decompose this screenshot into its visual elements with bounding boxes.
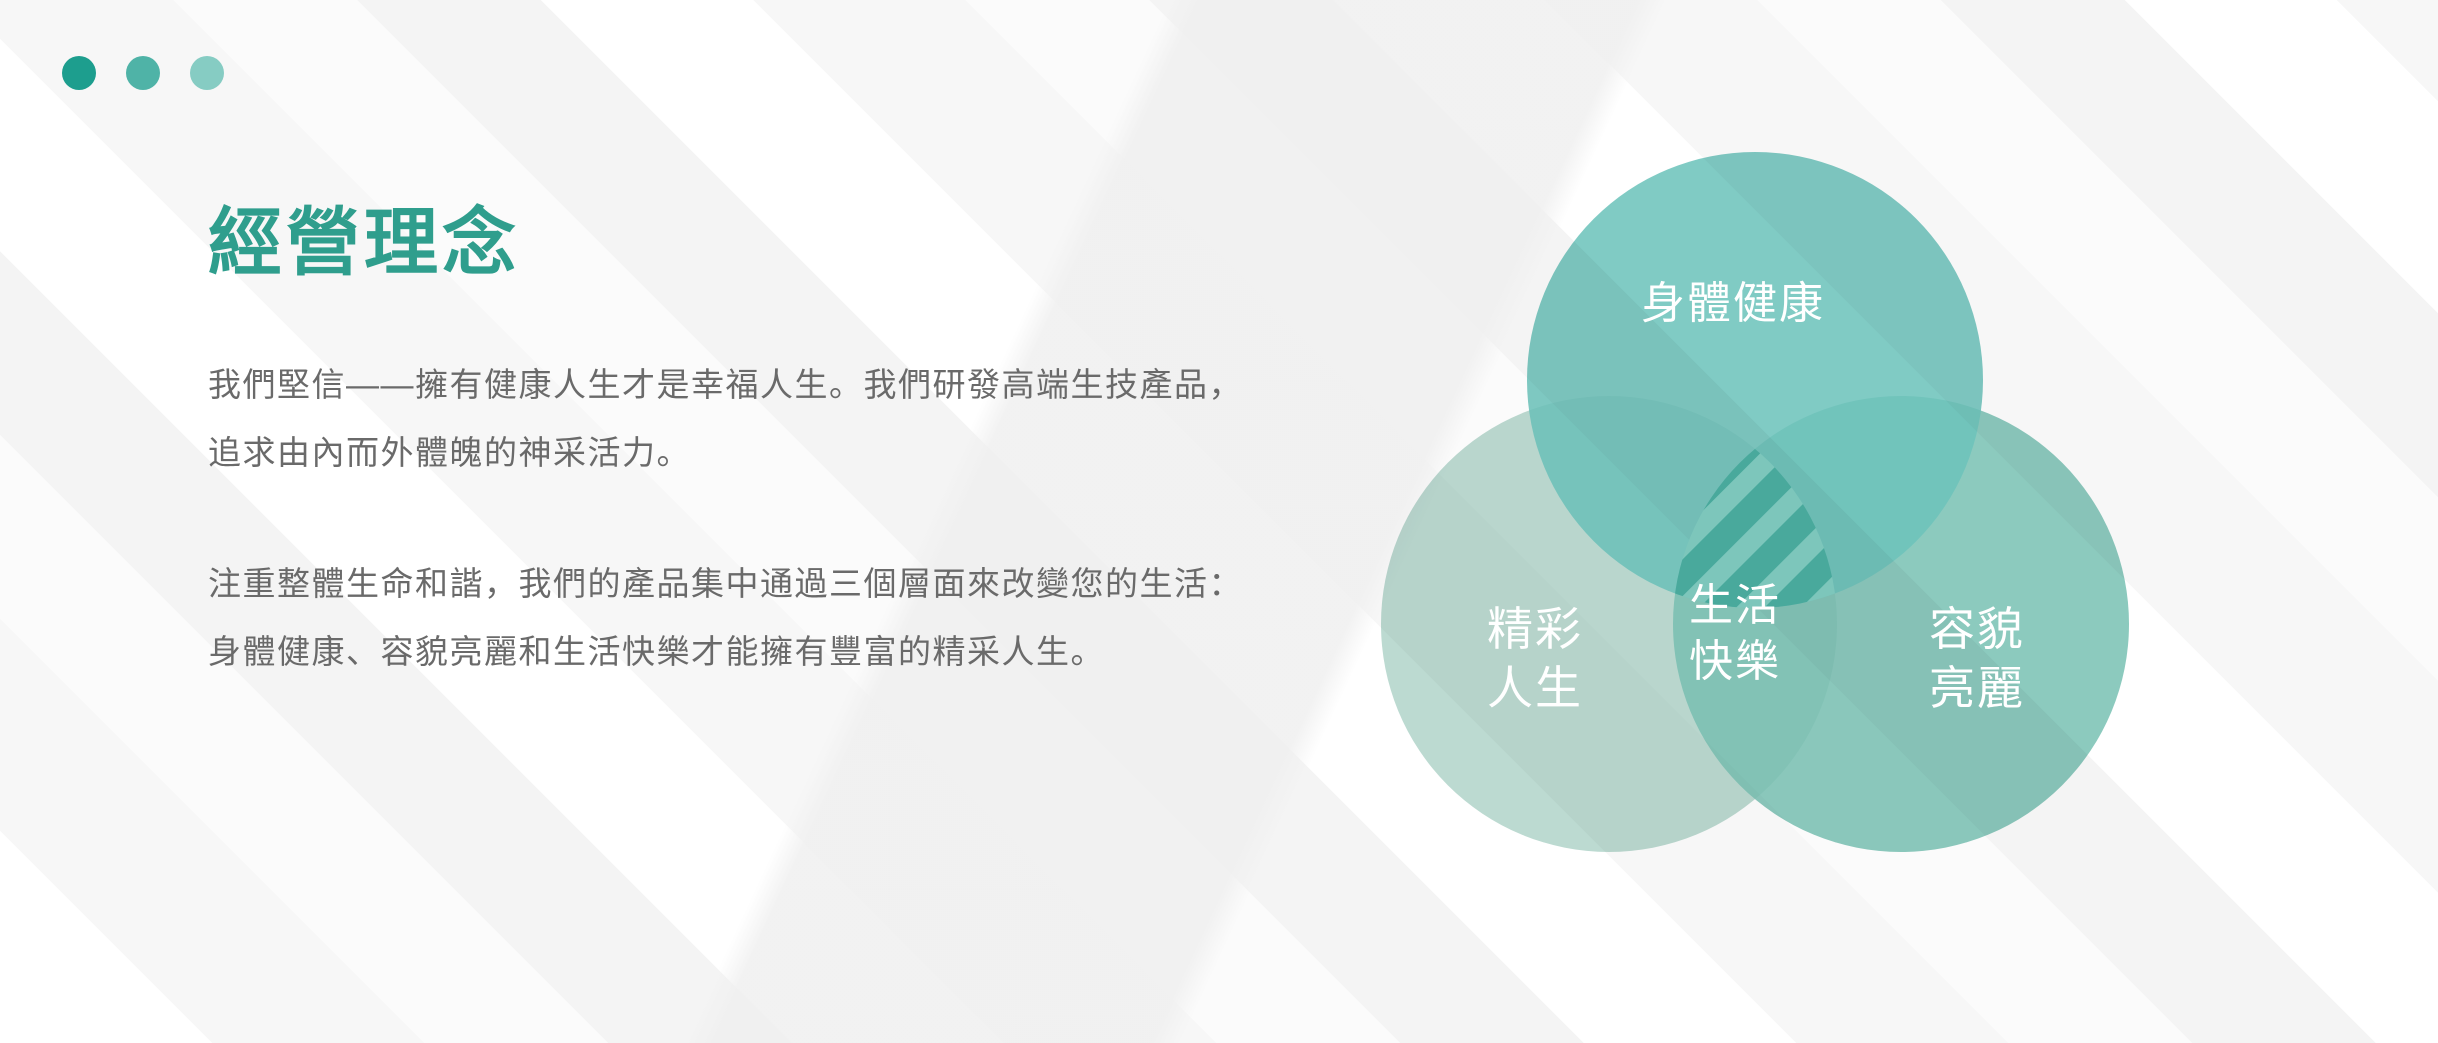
text-column: 經營理念 我們堅信——擁有健康人生才是幸福人生。我們研發高端生技產品，追求由內而… <box>208 200 1268 686</box>
dot-dark-icon <box>62 56 96 90</box>
slide-background: 經營理念 我們堅信——擁有健康人生才是幸福人生。我們研發高端生技產品，追求由內而… <box>0 0 2438 1043</box>
body-paragraph-1: 我們堅信——擁有健康人生才是幸福人生。我們研發高端生技產品，追求由內而外體魄的神… <box>208 351 1243 486</box>
page-title: 經營理念 <box>208 200 1268 285</box>
decorative-dots <box>62 56 224 90</box>
venn-svg <box>1325 108 2185 938</box>
dot-medium-icon <box>126 56 160 90</box>
body-paragraph-2: 注重整體生命和諧，我們的產品集中通過三個層面來改變您的生活：身體健康、容貌亮麗和… <box>208 550 1243 685</box>
venn-diagram: 身體健康 精彩 人生 容貌 亮麗 生活 快樂 <box>1325 108 2185 938</box>
dot-light-icon <box>190 56 224 90</box>
